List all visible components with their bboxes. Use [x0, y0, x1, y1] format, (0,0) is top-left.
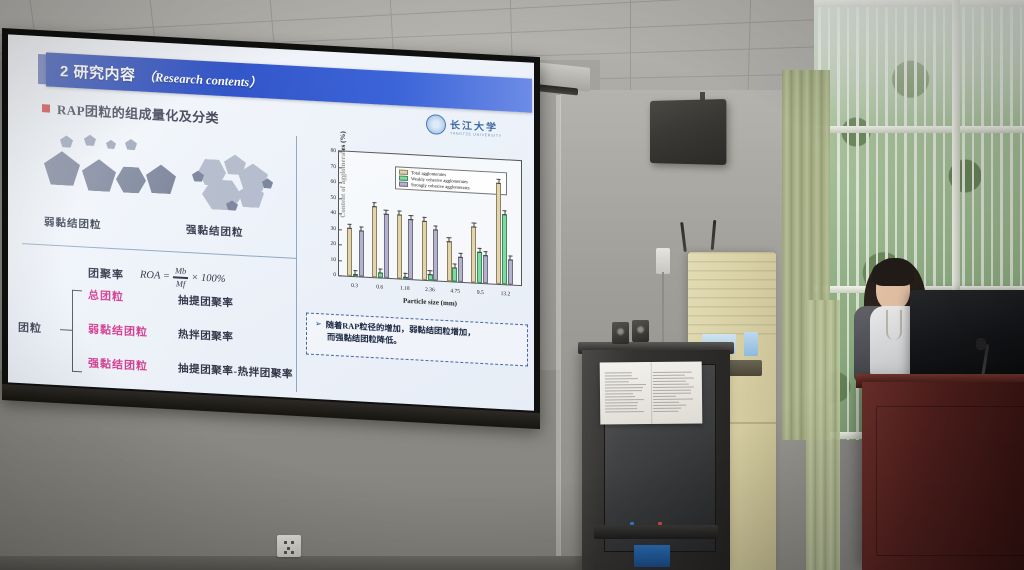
tree-value-weak: 热拌团聚率 — [178, 326, 234, 344]
error-bar — [410, 215, 411, 220]
tree-row-weak: 弱黏结团粒 热拌团聚率 — [88, 321, 234, 345]
y-tick-70: 70 — [331, 163, 337, 169]
y-tick-50: 50 — [331, 194, 337, 200]
wall-power-outlet[interactable] — [277, 535, 301, 557]
error-bar — [399, 211, 400, 216]
strong-particle-caption: 强黏结团粒 — [186, 222, 244, 240]
bar-0.3-1 — [353, 274, 358, 276]
bar-1.18-1 — [403, 277, 408, 279]
bar-group-2.36 — [418, 156, 443, 281]
x-tick-2.36: 2.36 — [417, 286, 442, 293]
tree-brace — [72, 290, 82, 373]
bar-group-0.3 — [343, 151, 368, 276]
error-bar — [361, 226, 362, 231]
weak-particle-3 — [116, 166, 146, 194]
tree-value-total: 抽提团聚率 — [178, 292, 234, 310]
tree-key-total: 总团粒 — [88, 287, 162, 307]
bar-group-0.6 — [368, 153, 393, 278]
slide-vertical-divider — [296, 136, 297, 392]
bar-group-4.75 — [442, 157, 467, 282]
error-bar — [510, 256, 511, 261]
bar-group-1.18 — [393, 154, 418, 279]
bar-9.5-2 — [483, 255, 488, 283]
classification-tree: 团粒 总团粒 抽提团聚率 弱黏结团粒 热拌团聚率 强黏结团粒 抽提团聚率-热拌团… — [14, 283, 296, 390]
agglomeration-formula-row: 团聚率 ROA = Mb Mf × 100% — [88, 261, 226, 291]
podium-monitor — [910, 290, 1024, 382]
error-bar — [498, 179, 499, 184]
weak-particle-4 — [146, 164, 176, 195]
x-tick-4.75: 4.75 — [443, 288, 468, 295]
curtain-right — [806, 300, 840, 570]
ac-louvers — [688, 252, 776, 338]
y-tick-10: 10 — [331, 256, 337, 262]
error-bar — [349, 224, 350, 229]
y-tick-80: 80 — [331, 148, 337, 154]
y-tick-0: 0 — [333, 272, 336, 278]
powerpoint-slide: 2 研究内容 （Research contents） 长江大学 YANGTZE … — [8, 34, 534, 410]
error-bar — [485, 251, 486, 256]
arrow-icon: ➢ — [315, 319, 322, 330]
x-tick-0.3: 0.3 — [342, 282, 367, 289]
bar-0.6-2 — [384, 214, 389, 278]
x-tick-9.5: 9.5 — [468, 289, 493, 296]
projected-slide-surface: 2 研究内容 （Research contents） 长江大学 YANGTZE … — [8, 34, 534, 410]
error-bar — [479, 248, 480, 253]
formula-numerator: Mb — [173, 265, 188, 276]
error-bar — [504, 210, 505, 215]
small-particle-1 — [60, 135, 73, 148]
tree-row-strong: 强黏结团粒 抽提团聚率-热拌团聚率 — [88, 355, 293, 382]
error-bar — [435, 225, 436, 230]
bar-0.3-2 — [359, 230, 364, 277]
x-tick-0.6: 0.6 — [367, 284, 392, 291]
chart-plot-area: 01020304050607080 Total agglomeratesWeak… — [338, 150, 522, 286]
bar-4.75-1 — [452, 267, 457, 281]
projection-screen: 2 研究内容 （Research contents） 长江大学 YANGTZE … — [2, 28, 540, 427]
rack-display — [634, 545, 670, 567]
weak-particle-1 — [44, 150, 80, 186]
error-bar — [374, 202, 375, 207]
presenter-lanyard — [886, 310, 902, 340]
agglomerate-bar-chart: Content of agglomerates (%) 010203040506… — [304, 142, 530, 312]
pc-speaker-left — [612, 322, 629, 344]
window-glare — [814, 0, 1024, 130]
university-logo: 长江大学 YANGTZE UNIVERSITY — [426, 111, 524, 142]
error-bar — [454, 264, 455, 269]
bar-2.36-0 — [422, 221, 427, 280]
bullet-square-icon — [42, 104, 50, 112]
university-seal-icon — [426, 114, 446, 135]
slide-title-en: （Research contents） — [143, 65, 262, 90]
weak-particle-caption: 弱黏结团粒 — [44, 214, 102, 232]
floor — [0, 556, 600, 570]
conclusion-line-2: 而强黏结团粒降低。 — [327, 332, 402, 348]
error-bar — [460, 253, 461, 258]
weak-particle-2 — [82, 158, 116, 192]
bar-4.75-0 — [447, 241, 452, 282]
pc-speaker-right — [632, 320, 649, 342]
small-particle-3 — [106, 140, 116, 150]
bar-13.2-0 — [496, 183, 501, 284]
error-bar — [380, 269, 381, 274]
conclusion-box: ➢ 随着RAP粒径的增加，弱黏结团粒增加， 而强黏结团粒降低。 — [306, 312, 528, 366]
chart-bars — [339, 151, 521, 285]
error-bar — [473, 223, 474, 228]
y-tick-60: 60 — [331, 179, 337, 185]
small-particle-2 — [84, 134, 96, 146]
ac-energy-sticker — [744, 332, 758, 356]
formula-symbol: ROA = — [140, 269, 170, 282]
tree-key-strong: 强黏结团粒 — [88, 355, 162, 375]
bar-13.2-1 — [502, 214, 507, 284]
y-tick-40: 40 — [331, 210, 337, 216]
podium-front-panel — [876, 406, 1024, 556]
bar-2.36-1 — [428, 274, 433, 280]
bar-9.5-0 — [471, 227, 476, 283]
bar-4.75-2 — [458, 257, 463, 282]
room-scene: 2 研究内容 （Research contents） 长江大学 YANGTZE … — [0, 0, 1024, 570]
formula-label: 团聚率 — [88, 264, 124, 282]
error-bar — [430, 270, 431, 275]
formula-denominator: Mf — [174, 278, 187, 289]
y-tick-30: 30 — [331, 225, 337, 231]
bar-1.18-0 — [397, 215, 402, 279]
formula-multiplier: × 100% — [191, 272, 225, 285]
bar-0.6-0 — [372, 206, 377, 278]
bullet-heading-text: RAP团粒的组成量化及分类 — [57, 99, 219, 127]
wall-corner-highlight — [556, 95, 561, 570]
tree-value-strong: 抽提团聚率-热拌团聚率 — [178, 360, 293, 381]
error-bar — [355, 270, 356, 275]
error-bar — [449, 237, 450, 242]
formula-expression: ROA = Mb Mf × 100% — [140, 263, 226, 291]
intercom-cord — [662, 272, 664, 346]
y-tick-20: 20 — [331, 241, 337, 247]
bar-0.6-1 — [378, 273, 383, 278]
particle-illustrations — [26, 127, 290, 253]
error-bar — [386, 210, 387, 215]
podium — [862, 382, 1024, 570]
bar-group-13.2 — [492, 160, 517, 285]
bar-13.2-2 — [508, 260, 513, 285]
presenter-hair-front — [872, 260, 914, 286]
bar-2.36-2 — [433, 229, 438, 280]
tree-key-weak: 弱黏结团粒 — [88, 321, 162, 341]
bar-0.3-0 — [347, 228, 352, 276]
bar-9.5-1 — [477, 252, 482, 283]
wall-intercom[interactable] — [656, 248, 670, 274]
bar-group-9.5 — [467, 158, 492, 283]
tree-root-label: 团粒 — [18, 319, 42, 336]
bar-1.18-2 — [408, 219, 413, 280]
error-bar — [405, 273, 406, 278]
microphone-head — [976, 338, 986, 350]
x-tick-1.18: 1.18 — [392, 285, 417, 292]
slide-title-cn: 2 研究内容 — [60, 60, 136, 85]
taped-paper-sheets — [600, 361, 703, 424]
x-tick-13.2: 13.2 — [493, 291, 518, 298]
error-bar — [424, 217, 425, 222]
wall-speaker — [650, 99, 726, 165]
formula-fraction: Mb Mf — [173, 265, 188, 289]
slide-bullet-heading: RAP团粒的组成量化及分类 — [42, 98, 219, 127]
rack-front-strip — [594, 525, 718, 539]
small-particle-4 — [125, 139, 137, 151]
